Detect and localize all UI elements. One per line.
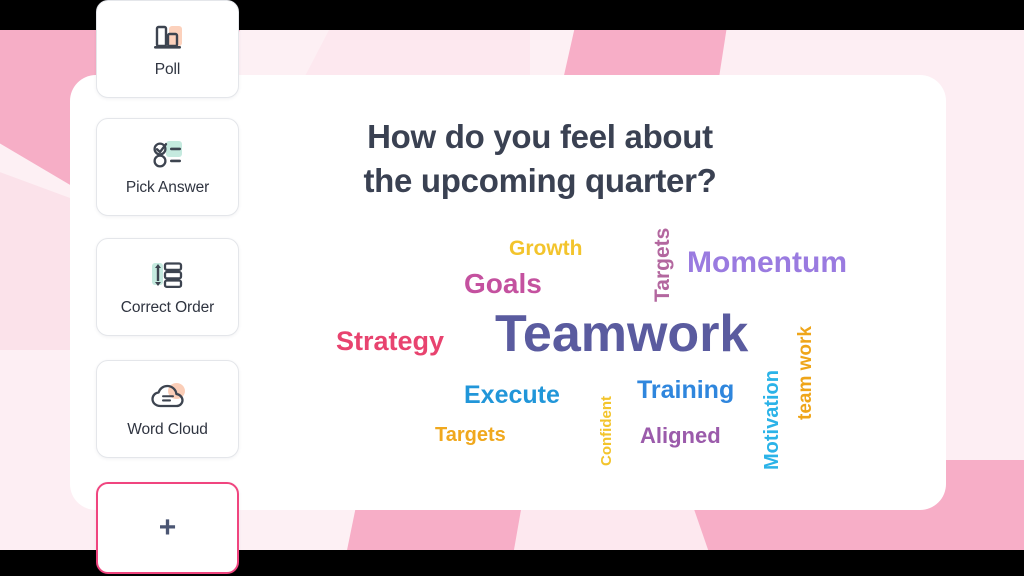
sidebar-item-label: Correct Order: [121, 299, 214, 317]
word-cloud-term: Aligned: [640, 425, 721, 447]
word-cloud-term: Training: [637, 378, 734, 403]
word-cloud-icon: [148, 379, 188, 415]
word-cloud-term: Momentum: [687, 248, 847, 278]
plus-icon: +: [159, 513, 177, 543]
word-cloud-term: Goals: [464, 270, 542, 298]
sidebar-item-word-cloud[interactable]: Word Cloud: [96, 360, 239, 458]
sidebar-item-poll[interactable]: Poll: [96, 0, 239, 98]
sidebar-item-label: Poll: [155, 61, 180, 79]
sidebar-item-label: Pick Answer: [126, 179, 209, 197]
slide-type-sidebar: PollPick AnswerCorrect OrderWord Cloud+: [96, 0, 239, 576]
word-cloud-term: Strategy: [336, 328, 444, 355]
sidebar-item-correct-order[interactable]: Correct Order: [96, 238, 239, 336]
question-line-1: How do you feel about: [230, 115, 850, 159]
add-slide-button[interactable]: +: [96, 482, 239, 574]
bar-chart-icon: [148, 19, 188, 55]
word-cloud-term: Motivation: [762, 370, 782, 470]
word-cloud-term: Targets: [652, 228, 673, 302]
word-cloud: TeamworkMomentumStrategyGoalsGrowthTarge…: [250, 220, 950, 490]
sidebar-item-pick-answer[interactable]: Pick Answer: [96, 118, 239, 216]
word-cloud-term: Confident: [599, 396, 614, 466]
checklist-icon: [148, 137, 188, 173]
question-line-2: the upcoming quarter?: [230, 159, 850, 203]
word-cloud-term: Execute: [464, 383, 560, 408]
word-cloud-term: Targets: [435, 425, 506, 445]
page-title: How do you feel about the upcoming quart…: [230, 115, 850, 203]
word-cloud-term: team work: [796, 326, 815, 420]
word-cloud-term: Growth: [509, 238, 583, 259]
screen-root: How do you feel about the upcoming quart…: [0, 0, 1024, 576]
reorder-icon: [148, 257, 188, 293]
word-cloud-term: Teamwork: [495, 308, 748, 360]
sidebar-item-label: Word Cloud: [127, 421, 208, 439]
